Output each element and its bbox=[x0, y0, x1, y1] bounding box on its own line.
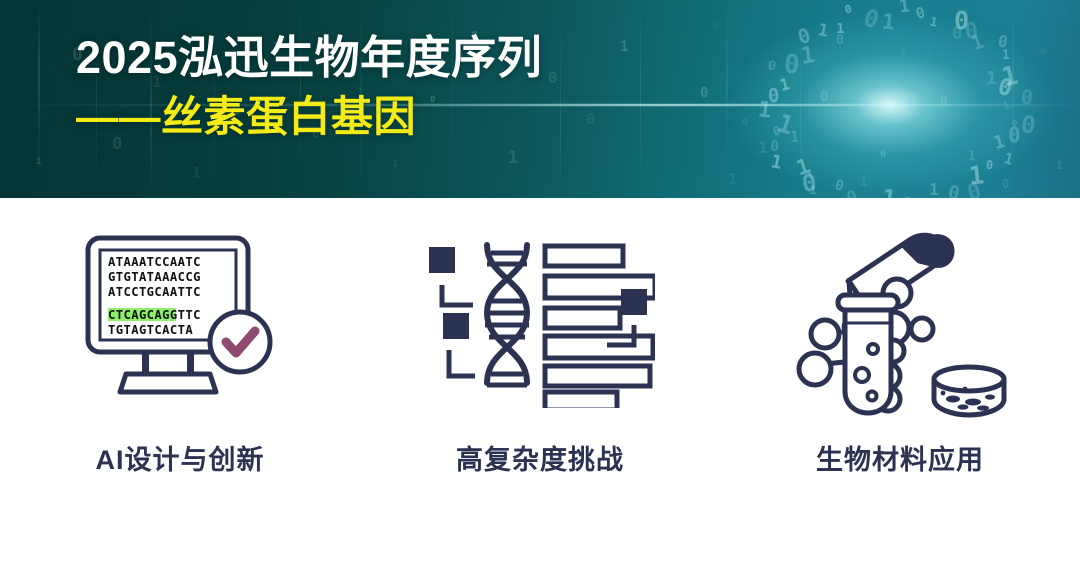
binary-digit: 1 bbox=[392, 160, 398, 170]
binary-digit: 1 bbox=[929, 182, 939, 198]
banner-title-line2: ——丝素蛋白基因 bbox=[76, 95, 716, 140]
feature-card-label: AI设计与创新 bbox=[96, 438, 265, 477]
binary-digit: 1 bbox=[900, 46, 907, 57]
binary-digit: 0 bbox=[783, 51, 800, 78]
sequence-line-2: GTGTATAAACCG bbox=[108, 270, 201, 284]
feature-card-label: 生物材料应用 bbox=[816, 438, 984, 477]
binary-digit: 0 bbox=[843, 4, 852, 16]
binary-digit: 1 bbox=[1002, 151, 1015, 168]
dna-gel-icon-svg bbox=[425, 233, 655, 408]
feature-card-label: 高复杂度挑战 bbox=[456, 438, 624, 477]
binary-digit: 1 bbox=[860, 176, 867, 188]
feature-card-ai-design: ATAAATCCAATC GTGTATAAACCG ATCCTGCAATTC C… bbox=[0, 198, 360, 477]
binary-digit: 0 bbox=[795, 25, 813, 48]
binary-digit: 0 bbox=[946, 183, 961, 198]
binary-digit: 0 bbox=[742, 118, 748, 128]
sequence-line-4-highlighted: CTCAGCAGGTTC bbox=[108, 308, 201, 322]
petri-dish-icon bbox=[934, 367, 1004, 415]
feature-card-row: ATAAATCCAATC GTGTATAAACCG ATCCTGCAATTC C… bbox=[0, 198, 1080, 570]
dna-helix-gel-bands-icon bbox=[425, 220, 655, 420]
binary-digit: 0 bbox=[1012, 120, 1017, 129]
binary-digit: 1 bbox=[790, 130, 799, 145]
binary-digit: 0 bbox=[768, 87, 781, 107]
binary-digit: 0 bbox=[834, 178, 846, 194]
monitor-icon-svg: ATAAATCCAATC GTGTATAAACCG ATCCTGCAATTC C… bbox=[80, 230, 280, 410]
binary-digit: 1 bbox=[899, 0, 911, 16]
binary-digit: 0 bbox=[1019, 112, 1037, 138]
binary-digit: 1 bbox=[806, 168, 813, 180]
binary-digit: 0 bbox=[770, 139, 779, 154]
test-tube-icon bbox=[838, 295, 898, 413]
biomaterial-icon-svg bbox=[793, 223, 1008, 418]
binary-digit: 0 bbox=[820, 90, 828, 104]
binary-digit: 1 bbox=[968, 150, 976, 163]
feature-card-complexity: 高复杂度挑战 bbox=[360, 198, 720, 477]
binary-digit: 0 bbox=[1020, 86, 1034, 107]
connector-bottom-left bbox=[449, 350, 475, 376]
binary-digit: 1 bbox=[993, 133, 1008, 153]
poster-page: 1001101001011001011001101001011001101001… bbox=[0, 0, 1080, 570]
binary-digit: 1 bbox=[769, 153, 783, 173]
binary-digit: 0 bbox=[1002, 178, 1009, 190]
binary-digit: 1 bbox=[880, 187, 897, 198]
binary-digit: 1 bbox=[969, 33, 986, 55]
binary-digit: 0 bbox=[861, 5, 882, 32]
binary-digit: 1 bbox=[758, 140, 768, 156]
binary-digit: 1 bbox=[1001, 49, 1009, 62]
binary-digit: 0 bbox=[836, 34, 844, 47]
binary-digit: 1 bbox=[986, 70, 997, 88]
connector-top-left bbox=[442, 285, 473, 305]
binary-digit: 1 bbox=[36, 158, 41, 167]
binary-digit: 0 bbox=[952, 26, 962, 43]
binary-digit: 0 bbox=[1040, 48, 1046, 58]
banner-title-block: 2025泓迅生物年度序列 ——丝素蛋白基因 bbox=[76, 34, 716, 139]
binary-digit: 1 bbox=[816, 22, 829, 41]
binary-digit: 1 bbox=[192, 166, 201, 181]
banner-title-line1: 2025泓迅生物年度序列 bbox=[76, 34, 716, 82]
sequence-line-5: TGTAGTCACTA bbox=[108, 323, 193, 337]
header-banner: 1001101001011001011001101001011001101001… bbox=[0, 0, 1080, 198]
monitor-dna-sequence-check-icon: ATAAATCCAATC GTGTATAAACCG ATCCTGCAATTC C… bbox=[80, 220, 280, 420]
binary-digit: 1 bbox=[1056, 160, 1063, 171]
gel-band-group bbox=[545, 246, 655, 408]
binary-digit: 0 bbox=[986, 158, 994, 171]
binary-digit: 0 bbox=[940, 96, 948, 109]
binary-digit: 1 bbox=[929, 15, 939, 28]
node-square-right bbox=[621, 289, 647, 315]
binary-digit: 0 bbox=[845, 189, 859, 198]
binary-digit: 1 bbox=[881, 11, 896, 33]
node-square-top-left bbox=[429, 247, 455, 273]
binary-digit: 1 bbox=[728, 172, 737, 187]
test-tube-pipette-molecule-petri-icon bbox=[793, 220, 1008, 420]
binary-digit: 0 bbox=[880, 150, 886, 160]
binary-digit: 1 bbox=[508, 150, 518, 167]
binary-digit: 0 bbox=[914, 5, 927, 22]
sequence-line-1: ATAAATCCAATC bbox=[108, 255, 201, 269]
binary-digit: 1 bbox=[712, 22, 717, 31]
sequence-line-3: ATCCTGCAATTC bbox=[108, 285, 201, 299]
feature-card-biomaterial: 生物材料应用 bbox=[720, 198, 1080, 477]
node-square-mid-left bbox=[443, 313, 469, 339]
binary-digit: 1 bbox=[766, 60, 773, 71]
